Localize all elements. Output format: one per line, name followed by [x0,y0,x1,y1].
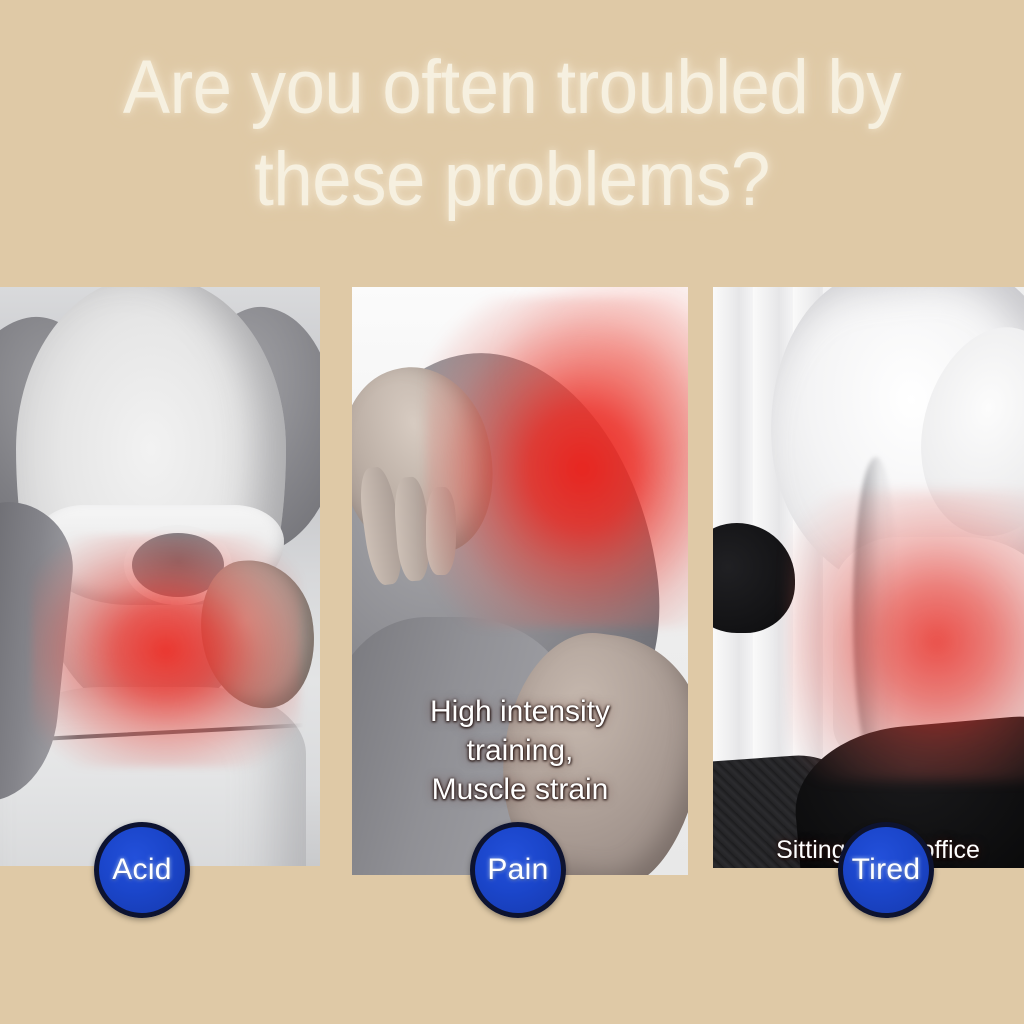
page-title: Are you often troubled by these problems… [36,42,988,226]
problem-panel-pain: High intensity training, Muscle strain [352,287,688,875]
problem-panel-acid: Muscle soreness after exercise [0,287,320,866]
photo-muscle-strain [352,287,688,875]
badge-acid: Acid [94,822,190,918]
promo-poster: Are you often troubled by these problems… [0,0,1024,1024]
problem-panel-tired: Sitting in the office for a long time, p… [713,287,1024,868]
badge-tired-label: Tired [852,853,921,887]
badge-pain: Pain [470,822,566,918]
photo-muscle-soreness [0,287,320,866]
badge-tired: Tired [838,822,934,918]
badge-acid-label: Acid [112,853,172,887]
badge-pain-label: Pain [487,853,548,887]
photo-office-fatigue [713,287,1024,868]
